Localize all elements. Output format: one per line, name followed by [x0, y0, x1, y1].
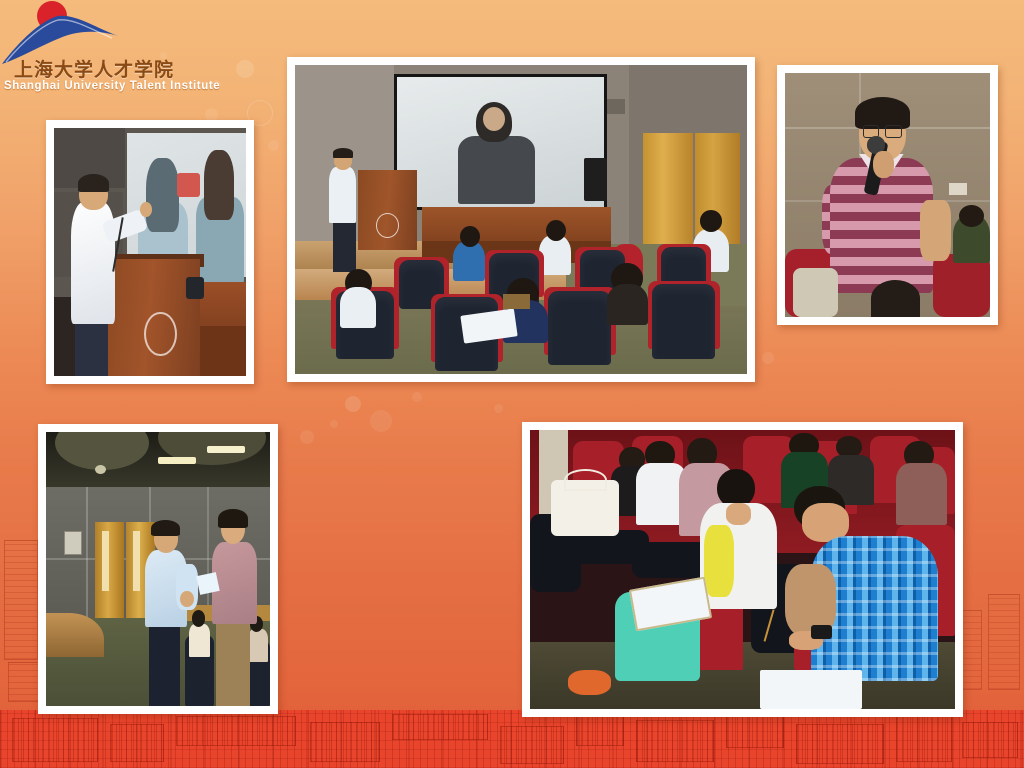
logo-name-en: Shanghai University Talent Institute — [4, 80, 220, 92]
photo-podium-speaker[interactable]: Man in white shirt speaking at a wooden … — [46, 120, 254, 384]
logo-name-cn: 上海大学人才学院 — [14, 55, 174, 82]
bokeh-circle — [762, 352, 774, 364]
photo-lecture-hall-wide-image — [295, 65, 747, 374]
watermark-blocks — [0, 710, 1024, 768]
photo-caption: Young man with glasses in a maroon strip… — [785, 317, 786, 318]
bokeh-circle — [330, 420, 338, 428]
bokeh-circle — [345, 396, 361, 412]
bottom-watermark-band — [0, 710, 1024, 768]
photo-caption: Students seated in red auditorium chairs… — [530, 709, 531, 710]
bokeh-circle — [268, 140, 279, 151]
bokeh-circle — [370, 410, 392, 432]
photo-hall-two-men-image — [46, 432, 270, 706]
photo-lecture-hall-wide[interactable]: Wide view of lecture hall: speaker at po… — [287, 57, 755, 382]
photo-hall-two-men[interactable]: Man in light blue shirt talking with a s… — [38, 424, 278, 714]
bokeh-circle — [236, 60, 254, 78]
institute-logo: 上海大学人才学院 Shanghai University Talent Inst… — [0, 0, 205, 100]
photo-caption: Man in white shirt speaking at a wooden … — [54, 376, 55, 377]
photo-student-microphone[interactable]: Young man with glasses in a maroon strip… — [777, 65, 998, 325]
bokeh-circle — [300, 430, 314, 444]
bokeh-circle — [412, 392, 422, 402]
photo-student-microphone-image — [785, 73, 990, 317]
photo-seated-students-image — [530, 430, 955, 709]
photo-seated-students[interactable]: Students seated in red auditorium chairs… — [522, 422, 963, 717]
photo-caption: Man in light blue shirt talking with a s… — [46, 706, 47, 707]
photo-podium-speaker-image — [54, 128, 246, 376]
bokeh-circle — [494, 404, 503, 413]
photo-caption: Wide view of lecture hall: speaker at po… — [295, 374, 296, 375]
slide-canvas: 上海大学人才学院 Shanghai University Talent Inst… — [0, 0, 1024, 768]
